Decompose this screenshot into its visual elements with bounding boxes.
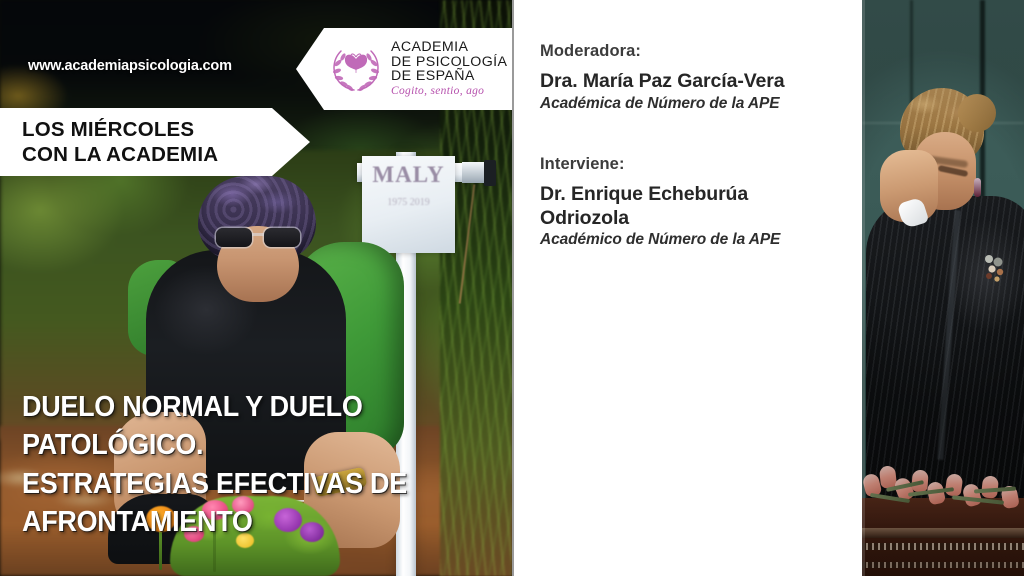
series-banner-line-1: LOS MIÉRCOLES: [22, 117, 310, 142]
series-banner: LOS MIÉRCOLES CON LA ACADEMIA: [0, 108, 310, 176]
academy-logo-text: ACADEMIA DE PSICOLOGÍA DE ESPAÑA Cogito,…: [391, 40, 507, 98]
panel-divider: [512, 0, 514, 576]
coffin-bead-molding: [862, 562, 1024, 568]
participants-panel: Moderadora: Dra. María Paz García-Vera A…: [514, 0, 862, 576]
logo-motto: Cogito, sentio, ago: [391, 86, 507, 98]
participant-moderator: Moderadora: Dra. María Paz García-Vera A…: [540, 42, 862, 113]
event-title-line-3: AFRONTAMIENTO: [22, 503, 459, 541]
event-title: DUELO NORMAL Y DUELO PATOLÓGICO. ESTRATE…: [22, 388, 492, 541]
grave-cross-arm-cap: [484, 160, 496, 186]
brooch-icon: [980, 252, 1008, 282]
tulip-bouquet: [862, 460, 1024, 514]
participant-role: Moderadora:: [540, 42, 862, 61]
sunglasses-icon: [214, 228, 304, 248]
participant-role: Interviene:: [540, 155, 862, 174]
event-title-line-2: ESTRATEGIAS EFECTIVAS DE: [22, 465, 459, 503]
right-photo-mourning-woman: [862, 0, 1024, 576]
website-url[interactable]: www.academiapsicologia.com: [28, 58, 232, 74]
participant-affiliation: Académico de Número de la APE: [540, 231, 862, 249]
logo-line-1: ACADEMIA: [391, 40, 507, 55]
left-photo-cemetery-planting: MALY 1975 2019: [0, 0, 512, 576]
participant-speaker: Interviene: Dr. Enrique Echeburúa Odrioz…: [540, 155, 862, 250]
coffin-trim: [862, 528, 1024, 538]
woman-hair-bun: [958, 94, 996, 132]
woman-earring: [974, 178, 981, 197]
series-banner-line-2: CON LA ACADEMIA: [22, 142, 310, 167]
participant-name: Dr. Enrique Echeburúa Odriozola: [540, 183, 862, 231]
academy-logo-banner: ACADEMIA DE PSICOLOGÍA DE ESPAÑA Cogito,…: [296, 28, 512, 110]
logo-line-3: DE ESPAÑA: [391, 69, 507, 84]
poster-canvas: MALY 1975 2019: [0, 0, 1024, 576]
participant-affiliation: Académica de Número de la APE: [540, 95, 862, 113]
event-title-line-1: DUELO NORMAL Y DUELO PATOLÓGICO.: [22, 388, 459, 465]
laurel-wreath-butterfly-icon: [330, 43, 382, 95]
participant-name: Dra. María Paz García-Vera: [540, 70, 862, 94]
coffin-bead-molding: [862, 543, 1024, 550]
participant-name-line-2: Odriozola: [540, 207, 862, 231]
participant-name-line-1: Dr. Enrique Echeburúa: [540, 183, 862, 207]
